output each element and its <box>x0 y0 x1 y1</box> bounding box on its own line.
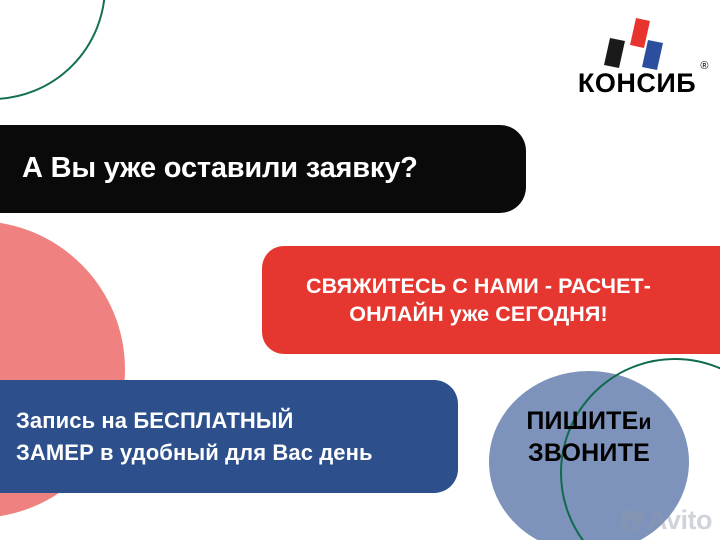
measure-banner-line1: Запись на БЕСПЛАТНЫЙ <box>16 408 293 433</box>
ad-banner-canvas: А Вы уже оставили заявку? СВЯЖИТЕСЬ С НА… <box>0 0 720 540</box>
brand-logo-marks-icon <box>566 18 708 70</box>
registered-trademark-icon: ® <box>700 61 709 72</box>
measure-banner-text: Запись на БЕСПЛАТНЫЙ ЗАМЕР в удобный для… <box>16 405 373 467</box>
brand-logo-name: КОНСИБ <box>578 68 696 98</box>
call-to-action-line1-strong: ПИШИТЕ <box>526 407 638 435</box>
call-to-action-text: ПИШИТЕи ЗВОНИТЕ <box>489 405 689 469</box>
question-banner-text: А Вы уже оставили заявку? <box>22 153 418 185</box>
avito-watermark-text: Avito <box>648 507 712 534</box>
measure-banner-line2: ЗАМЕР в удобный для Вас день <box>16 437 373 468</box>
question-banner: А Вы уже оставили заявку? <box>0 125 526 213</box>
decorative-ring-top-left <box>0 0 106 100</box>
call-to-action-line2: ЗВОНИТЕ <box>489 437 689 469</box>
contact-banner-line2: ОНЛАЙН уже СЕГОДНЯ! <box>286 300 671 328</box>
avito-watermark: Avito <box>619 507 712 534</box>
contact-banner-text: СВЯЖИТЕСЬ С НАМИ - РАСЧЕТ- ОНЛАЙН уже СЕ… <box>286 272 671 329</box>
avito-dots-icon <box>619 509 645 533</box>
contact-banner-line1: СВЯЖИТЕСЬ С НАМИ - РАСЧЕТ- <box>306 274 651 298</box>
brand-logo-wordmark: КОНСИБ ® <box>566 70 708 97</box>
measure-banner: Запись на БЕСПЛАТНЫЙ ЗАМЕР в удобный для… <box>0 380 458 493</box>
call-to-action-conjunction: и <box>639 411 652 434</box>
contact-banner: СВЯЖИТЕСЬ С НАМИ - РАСЧЕТ- ОНЛАЙН уже СЕ… <box>262 246 720 354</box>
brand-logo: КОНСИБ ® <box>566 18 708 97</box>
